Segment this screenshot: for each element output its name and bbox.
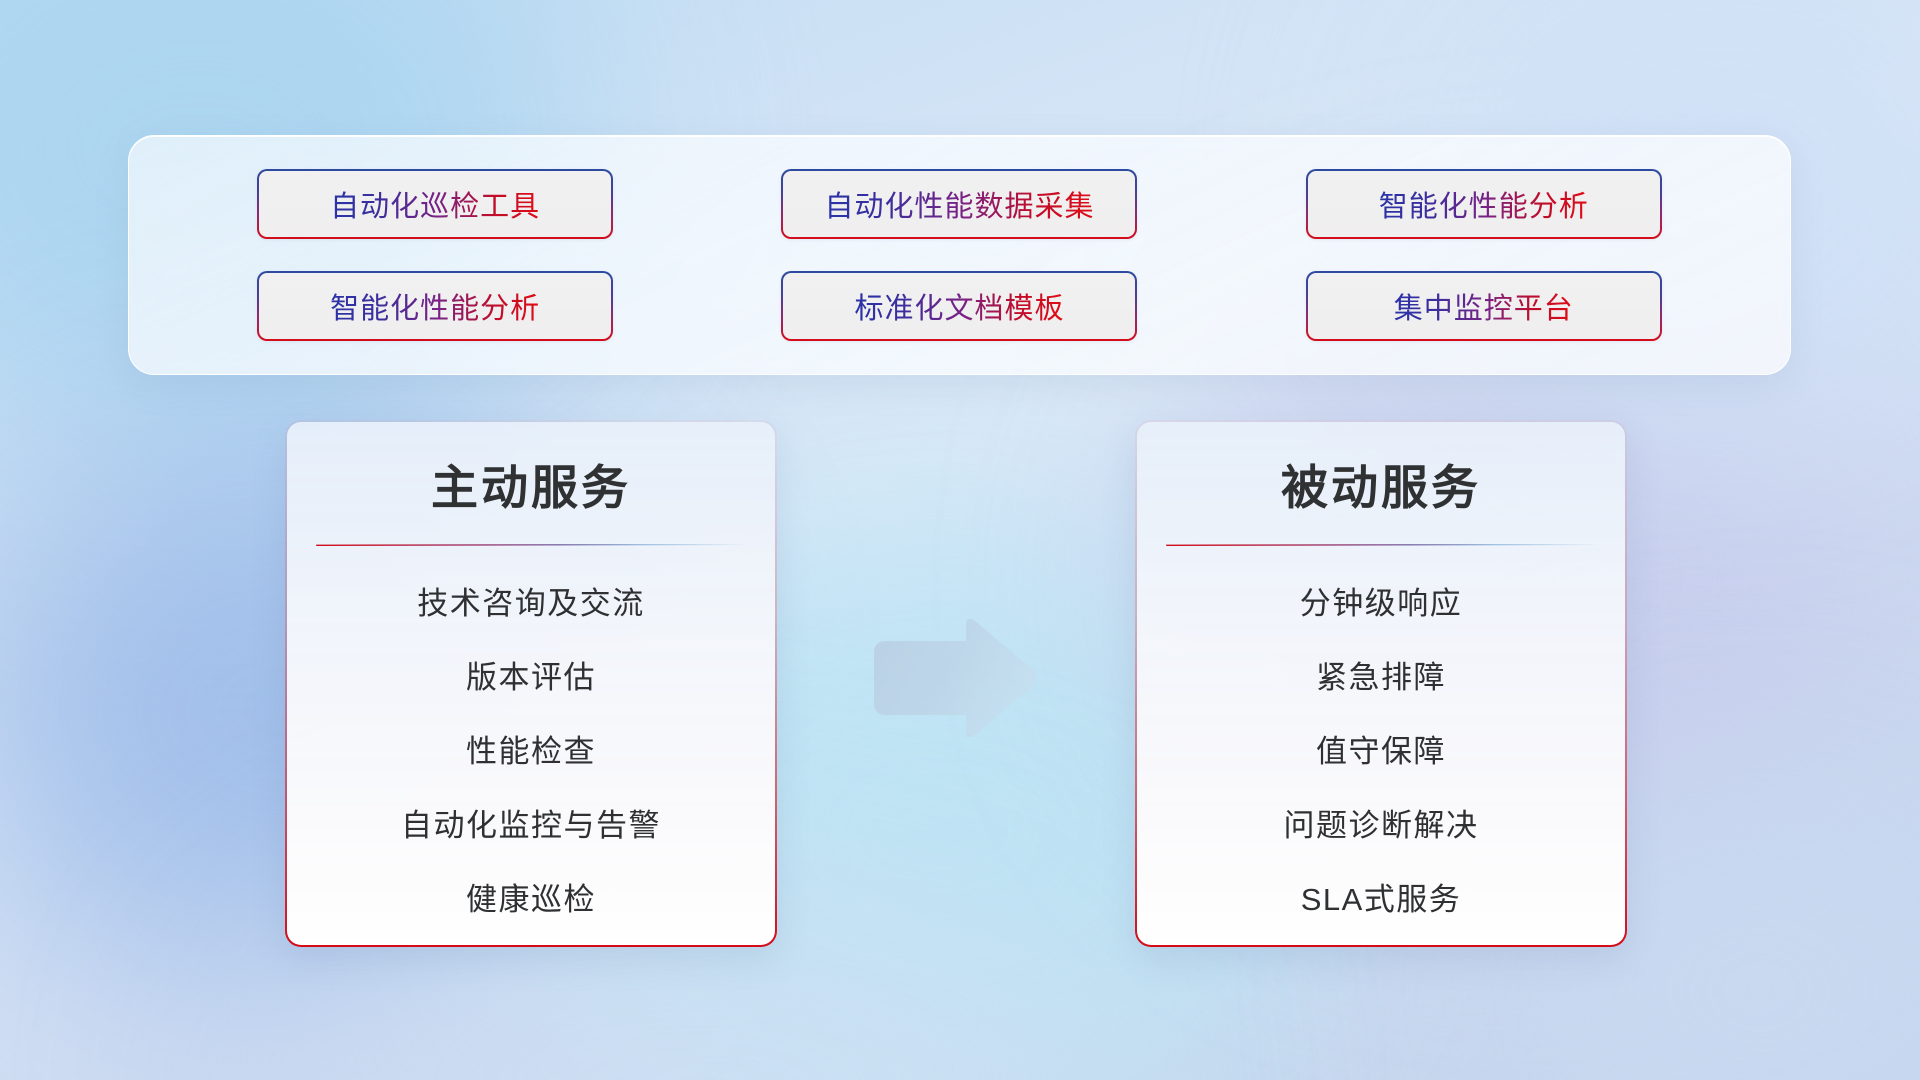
capability-tag-label: 标准化文档模板 <box>854 285 1064 327</box>
service-list-item[interactable]: 分钟级响应 <box>1300 578 1463 623</box>
service-card-passive[interactable]: 被动服务 分钟级响应 紧急排障 值守保障 问题诊断解决 SLA式服务 <box>1135 420 1627 947</box>
capability-tag-intelligent-performance-analysis-1[interactable]: 智能化性能分析 <box>1306 169 1662 239</box>
capability-tag-centralized-monitoring-platform[interactable]: 集中监控平台 <box>1306 271 1662 341</box>
service-list-item[interactable]: 自动化监控与告警 <box>401 800 661 845</box>
capability-tag-label: 自动化性能数据采集 <box>824 183 1094 225</box>
service-item-list: 分钟级响应 紧急排障 值守保障 问题诊断解决 SLA式服务 <box>1165 578 1597 919</box>
capability-tag-label: 智能化性能分析 <box>1379 183 1589 225</box>
capability-tag-automated-inspection-tool[interactable]: 自动化巡检工具 <box>257 169 613 239</box>
service-item-list: 技术咨询及交流 版本评估 性能检查 自动化监控与告警 健康巡检 <box>315 578 747 919</box>
service-list-item[interactable]: 版本评估 <box>466 652 596 697</box>
service-list-item[interactable]: 性能检查 <box>466 726 596 771</box>
capability-tag-automated-performance-collection[interactable]: 自动化性能数据采集 <box>781 169 1137 239</box>
capability-tag-label: 集中监控平台 <box>1394 285 1574 327</box>
service-card-active[interactable]: 主动服务 技术咨询及交流 版本评估 性能检查 自动化监控与告警 健康巡检 <box>285 420 777 947</box>
service-card-title: 被动服务 <box>1281 462 1481 514</box>
service-list-item[interactable]: 值守保障 <box>1316 726 1446 771</box>
capability-tag-standardized-doc-template[interactable]: 标准化文档模板 <box>781 271 1137 341</box>
title-divider <box>1166 544 1596 546</box>
service-list-item[interactable]: 健康巡检 <box>466 874 596 919</box>
service-list-item[interactable]: SLA式服务 <box>1301 874 1462 919</box>
capability-tag-label: 智能化性能分析 <box>330 285 540 327</box>
service-card-title: 主动服务 <box>431 462 631 514</box>
capability-tag-intelligent-performance-analysis-2[interactable]: 智能化性能分析 <box>257 271 613 341</box>
capability-tag-label: 自动化巡检工具 <box>330 183 540 225</box>
service-list-item[interactable]: 紧急排障 <box>1316 652 1446 697</box>
arrow-right-icon <box>866 613 1041 743</box>
capability-tag-panel: 自动化巡检工具 自动化性能数据采集 智能化性能分析 智能化性能分析 标准化文档模… <box>128 135 1791 375</box>
title-divider <box>316 544 746 546</box>
service-list-item[interactable]: 问题诊断解决 <box>1284 800 1479 845</box>
service-list-item[interactable]: 技术咨询及交流 <box>417 578 645 623</box>
slide-canvas: 自动化巡检工具 自动化性能数据采集 智能化性能分析 智能化性能分析 标准化文档模… <box>0 0 1920 1080</box>
